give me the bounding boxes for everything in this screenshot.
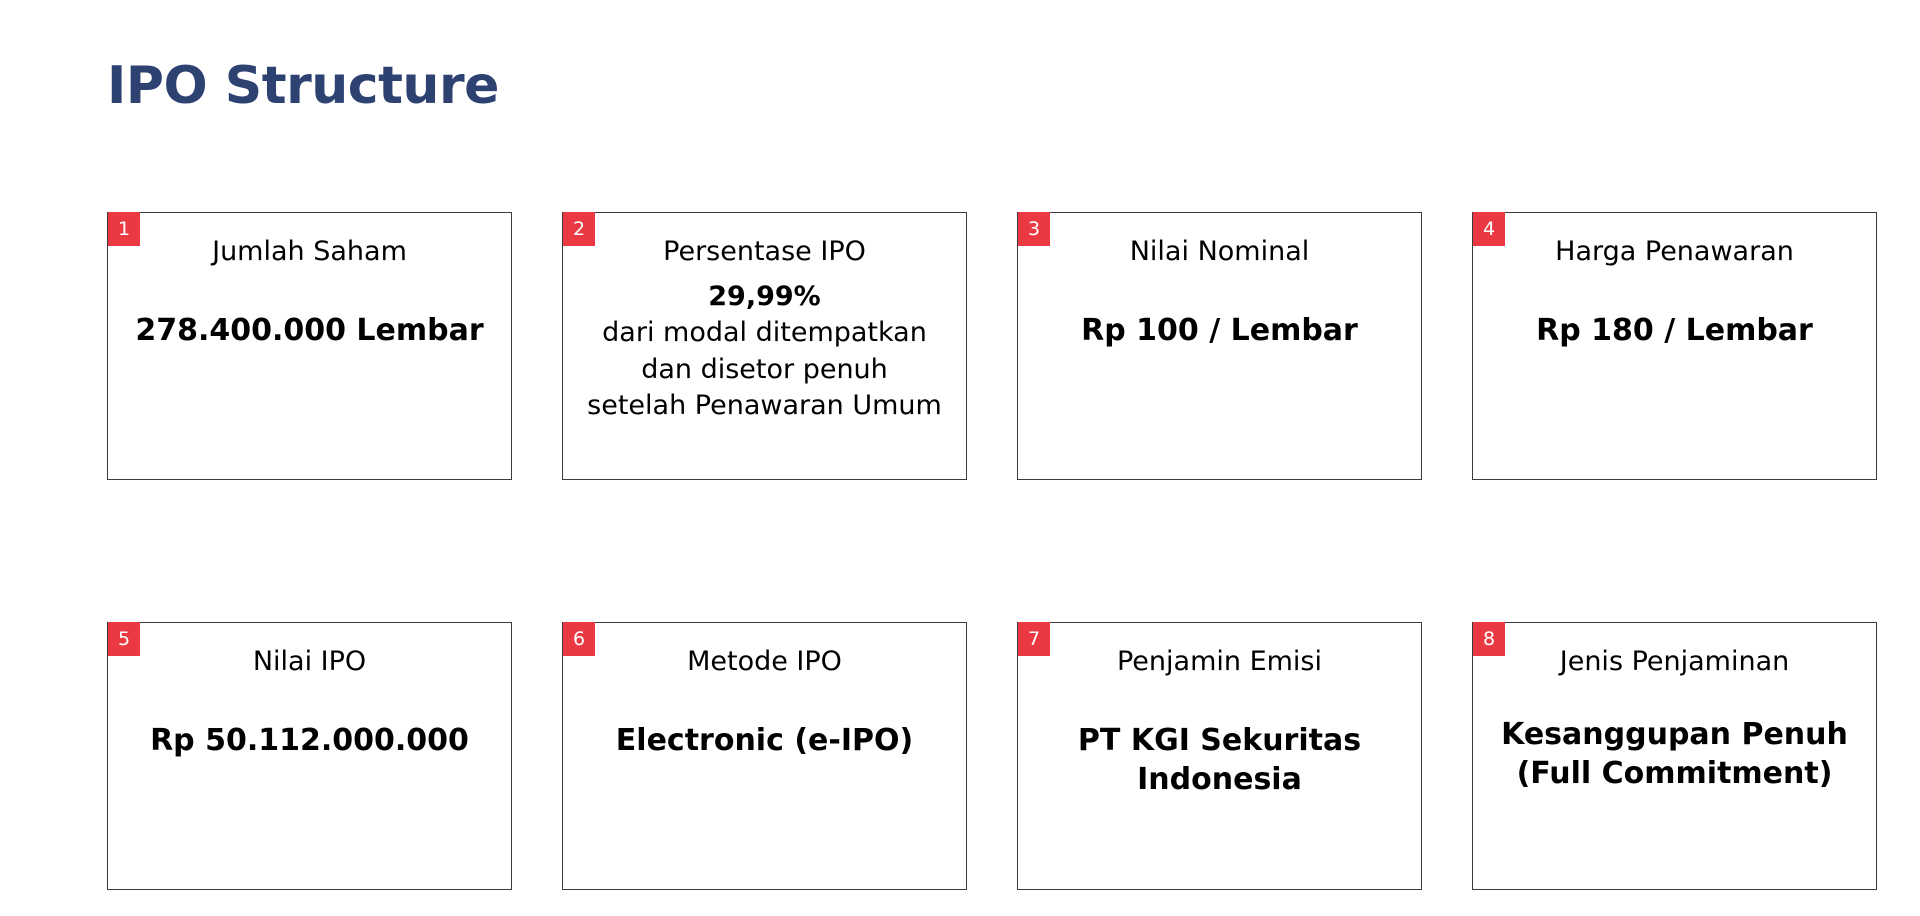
card-label: Persentase IPO [581,235,948,269]
card-value: Rp 50.112.000.000 [126,721,493,760]
ipo-card-nilai-nominal[interactable]: 3 Nilai Nominal Rp 100 / Lembar [1017,212,1422,480]
ipo-card-metode-ipo[interactable]: 6 Metode IPO Electronic (e-IPO) [562,622,967,890]
card-label: Penjamin Emisi [1036,645,1403,679]
ipo-structure-slide: IPO Structure 1 Jumlah Saham 278.400.000… [0,0,1920,916]
card-value: 278.400.000 Lembar [126,311,493,350]
ipo-card-jumlah-saham[interactable]: 1 Jumlah Saham 278.400.000 Lembar [107,212,512,480]
card-label: Nilai Nominal [1036,235,1403,269]
ipo-card-persentase-ipo[interactable]: 2 Persentase IPO 29,99% dari modal ditem… [562,212,967,480]
card-value: PT KGI Sekuritas Indonesia [1036,721,1403,799]
page-title: IPO Structure [107,58,499,115]
card-label: Jenis Penjaminan [1491,645,1858,679]
card-highlight-value: 29,99% [708,279,820,315]
card-label: Nilai IPO [126,645,493,679]
card-number-badge: 3 [1018,212,1050,246]
card-value-line-1: Kesanggupan Penuh [1491,715,1858,754]
card-number-badge: 6 [563,622,595,656]
card-number-badge: 7 [1018,622,1050,656]
card-label: Metode IPO [581,645,948,679]
ipo-structure-card-grid: 1 Jumlah Saham 278.400.000 Lembar 2 Pers… [107,212,1877,890]
card-detail-line-1: dari modal ditempatkan [602,315,927,351]
card-value-line-2: (Full Commitment) [1491,754,1858,793]
card-label: Harga Penawaran [1491,235,1858,269]
card-detail-line-3: setelah Penawaran Umum [587,388,942,424]
ipo-card-harga-penawaran[interactable]: 4 Harga Penawaran Rp 180 / Lembar [1472,212,1877,480]
card-number-badge: 2 [563,212,595,246]
card-number-badge: 4 [1473,212,1505,246]
card-value: Rp 180 / Lembar [1491,311,1858,350]
card-value: Kesanggupan Penuh (Full Commitment) [1491,715,1858,793]
card-number-badge: 1 [108,212,140,246]
card-detail-line-2: dan disetor penuh [641,352,888,388]
card-value: Rp 100 / Lembar [1036,311,1403,350]
card-value: Electronic (e-IPO) [581,721,948,760]
card-number-badge: 8 [1473,622,1505,656]
card-label: Jumlah Saham [126,235,493,269]
ipo-card-penjamin-emisi[interactable]: 7 Penjamin Emisi PT KGI Sekuritas Indone… [1017,622,1422,890]
ipo-card-nilai-ipo[interactable]: 5 Nilai IPO Rp 50.112.000.000 [107,622,512,890]
card-number-badge: 5 [108,622,140,656]
ipo-card-jenis-penjaminan[interactable]: 8 Jenis Penjaminan Kesanggupan Penuh (Fu… [1472,622,1877,890]
